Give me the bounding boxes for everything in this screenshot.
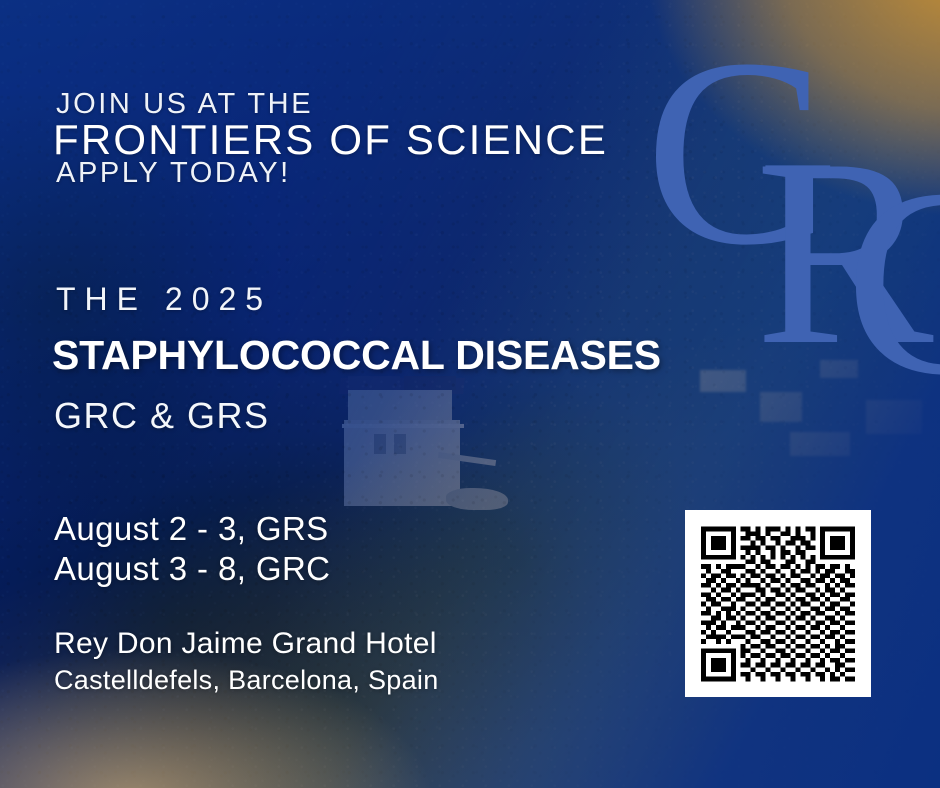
venue-name: Rey Don Jaime Grand Hotel: [54, 627, 437, 661]
logo-letter-c: C: [845, 148, 940, 416]
conference-year-label: THE 2025: [56, 281, 272, 318]
date-line-grs: August 2 - 3, GRS: [54, 510, 329, 548]
date-line-grc: August 3 - 8, GRC: [54, 550, 330, 588]
qr-code[interactable]: [685, 510, 871, 697]
conference-poster: G R C JOIN US AT THE FRONTIERS OF SCIENC…: [0, 0, 940, 788]
grc-logo: G R C: [645, 18, 935, 348]
venue-location: Castelldefels, Barcelona, Spain: [54, 665, 439, 696]
apply-today-line: APPLY TODAY!: [56, 157, 291, 190]
conference-type-label: GRC & GRS: [54, 395, 270, 437]
conference-title: STAPHYLOCOCCAL DISEASES: [52, 332, 661, 379]
qr-code-canvas[interactable]: [696, 522, 860, 686]
